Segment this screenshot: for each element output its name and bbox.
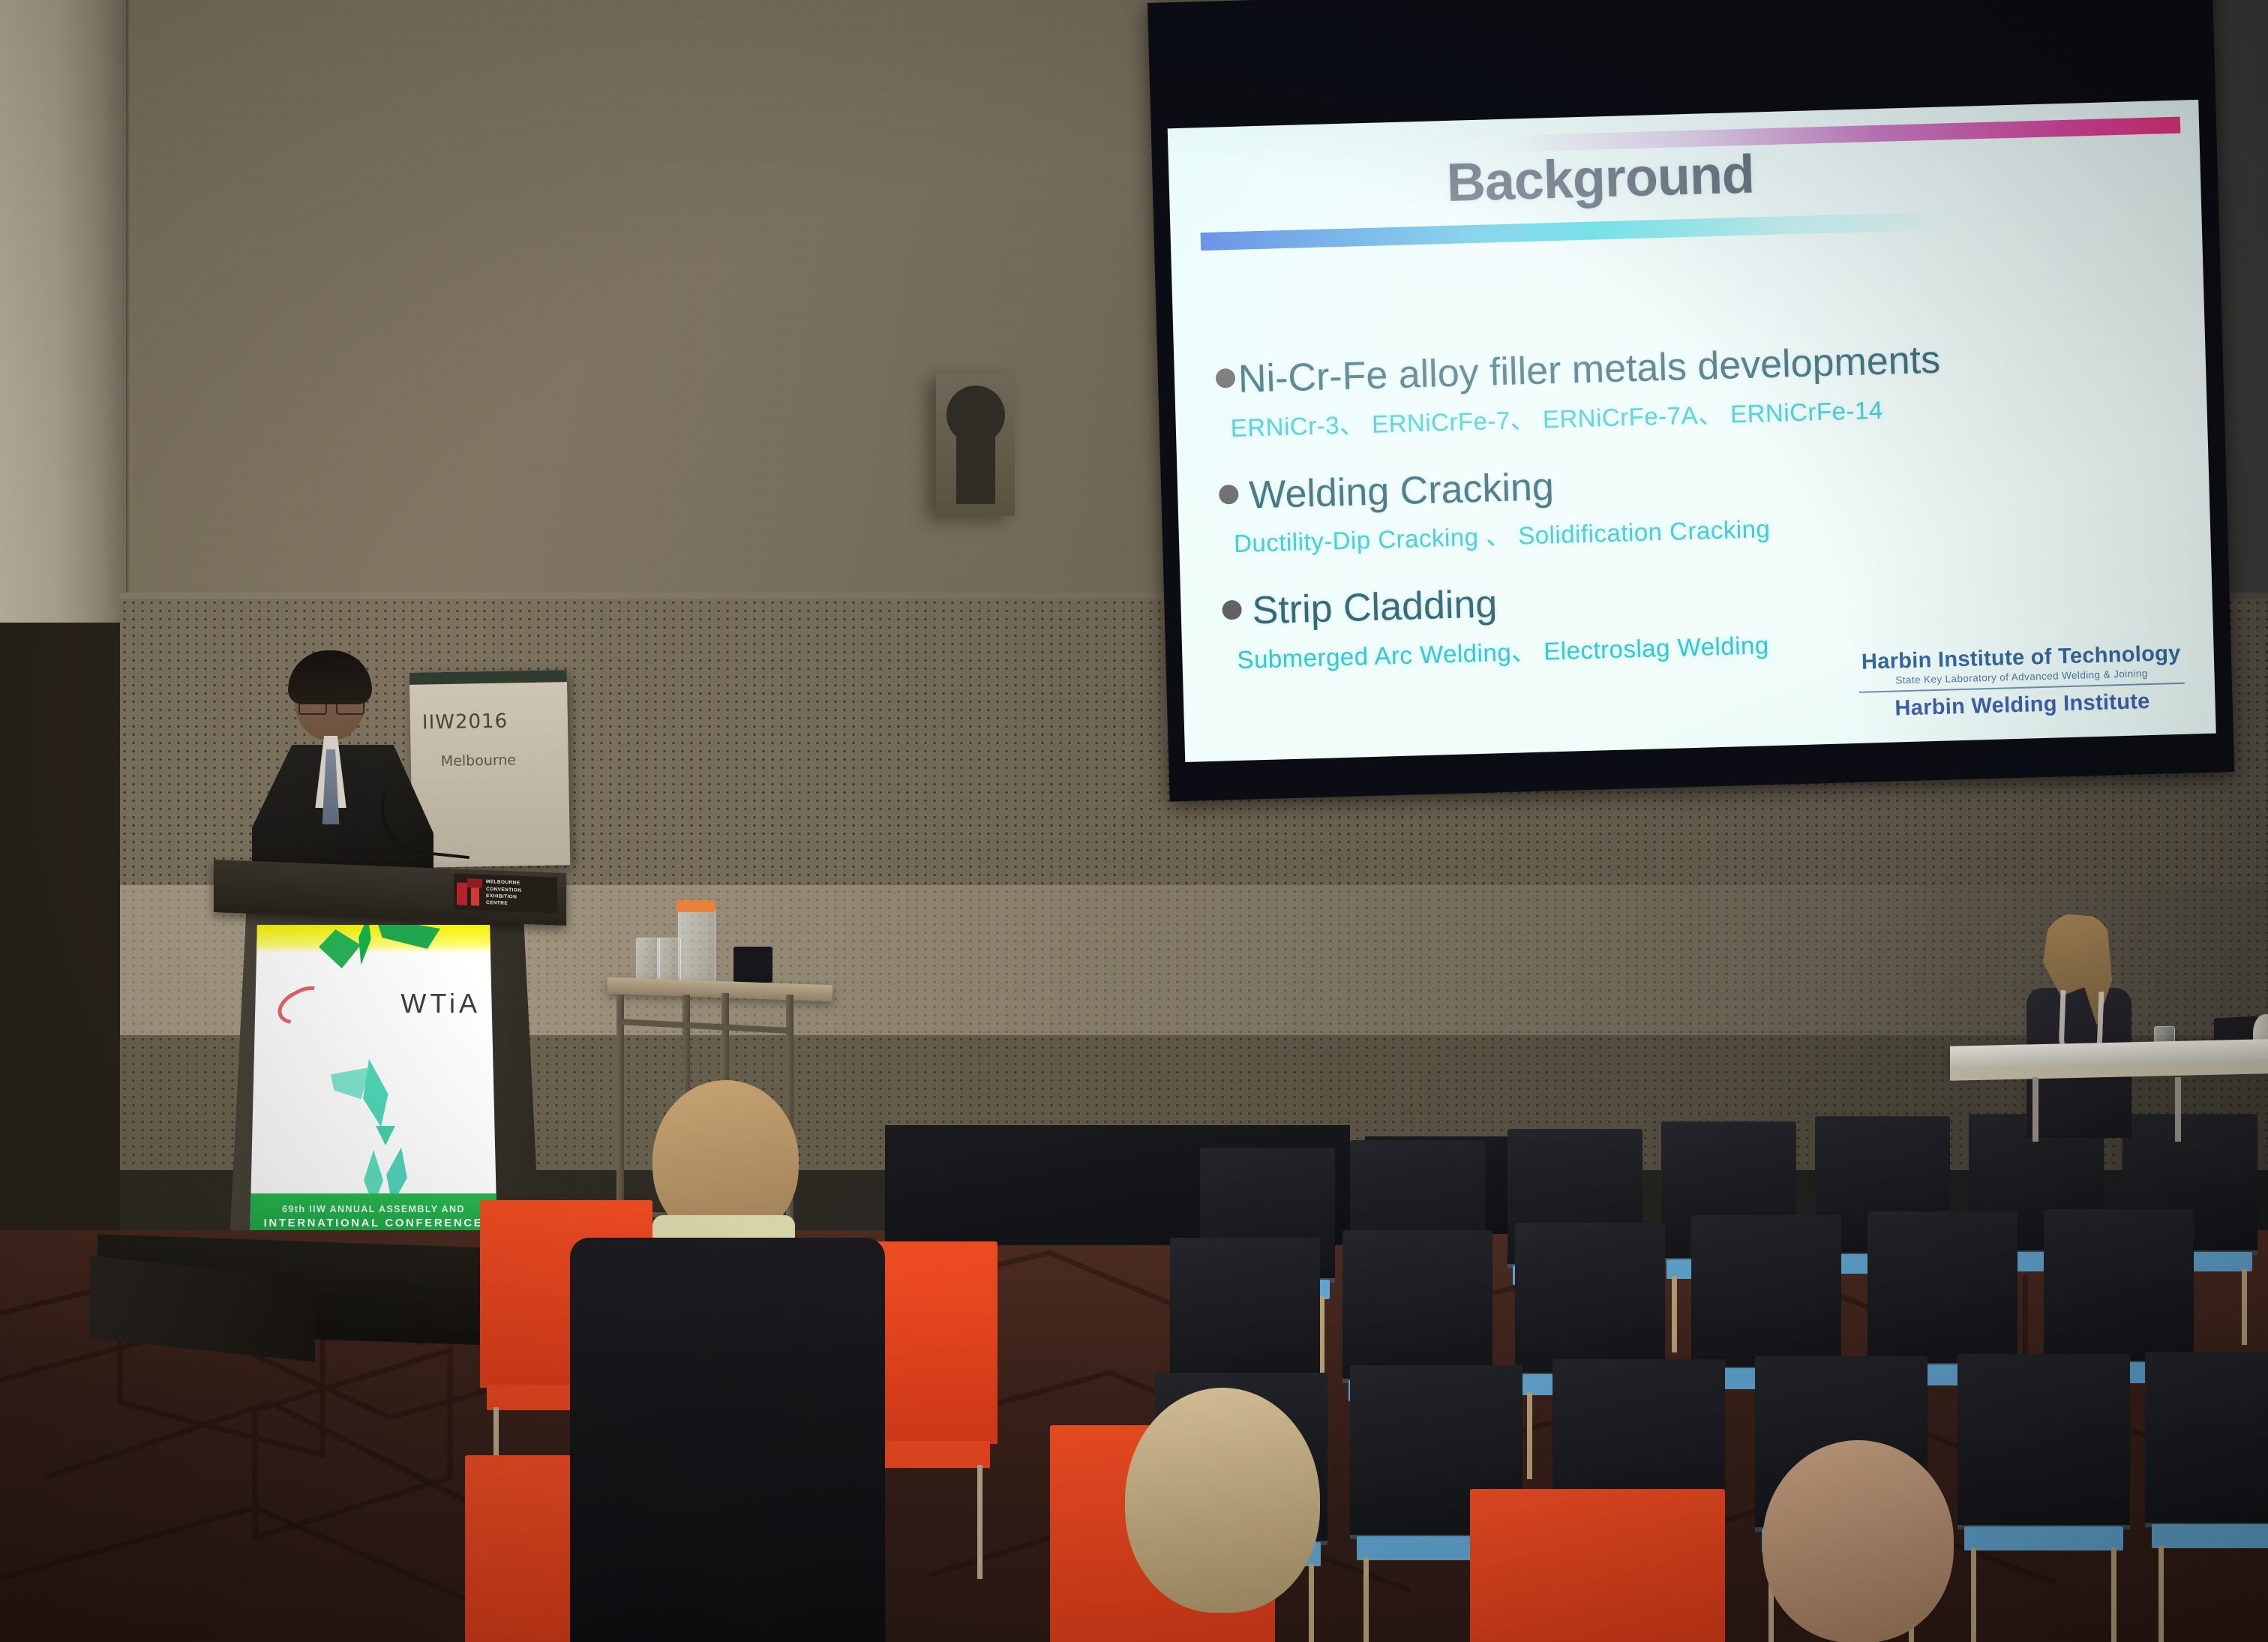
- bullet-dot-icon: [1219, 484, 1239, 504]
- panel-yellow-band: [250, 925, 497, 953]
- leaf-shape-icon: [376, 1126, 395, 1145]
- speaker-grille-icon: [946, 386, 1005, 504]
- water-carafe: [678, 908, 715, 987]
- swoosh-logo-icon: [272, 980, 333, 1033]
- slide-title: Background: [1168, 136, 2032, 221]
- chair-dark[interactable]: [1957, 1354, 2130, 1642]
- audience-head: [1125, 1388, 1320, 1613]
- slide-institution-footer: Harbin Institute of Technology State Key…: [1844, 641, 2198, 722]
- audience-torso: [570, 1238, 885, 1642]
- venue-logo-text: MELBOURNE CONVENTION EXHIBITION CENTRE: [486, 878, 521, 908]
- table-leg: [2175, 1077, 2181, 1142]
- left-wall-pillar: [0, 0, 127, 623]
- flipchart-text-line2: Melbourne: [441, 752, 517, 770]
- av-equipment-box: [733, 947, 772, 983]
- side-table-top: [607, 977, 832, 1001]
- presenter-person: [247, 656, 435, 881]
- table-leg: [2032, 1077, 2038, 1142]
- chair-dark[interactable]: [2145, 1352, 2268, 1642]
- head-table: [1950, 1043, 2268, 1133]
- presenter-hair: [288, 650, 372, 704]
- slide-bullet-2-heading: Welding Cracking: [1249, 467, 1555, 516]
- bullet-dot-icon: [1216, 368, 1236, 389]
- pillar-edge: [126, 0, 130, 623]
- audience-member-front: [570, 1080, 885, 1642]
- presentation-slide: Background Ni-Cr-Fe alloy filler metals …: [1168, 100, 2216, 762]
- glasses-icon: [297, 698, 366, 713]
- projection-screen: Background Ni-Cr-Fe alloy filler metals …: [1147, 0, 2234, 802]
- banner-line-1: 69th IIW ANNUAL ASSEMBLY AND: [282, 1204, 465, 1214]
- banner-line-2: INTERNATIONAL CONFERENCE: [264, 1217, 484, 1229]
- audience-member-right: [1747, 1440, 1972, 1642]
- audience-member-center: [1102, 1388, 1350, 1642]
- slide-bullet-3-heading: Strip Cladding: [1252, 584, 1498, 632]
- wtia-logo-text: WTiA: [400, 988, 481, 1019]
- chair-red[interactable]: [1470, 1489, 1725, 1642]
- podium-graphic-panel: WTiA 69th IIW ANNUAL ASSEMBLY AND INTERN…: [250, 925, 497, 1240]
- wall-speaker: [936, 374, 1015, 516]
- carafe-lid: [676, 900, 715, 912]
- mcec-mark-icon: [457, 878, 482, 906]
- conference-room-photo: Background Ni-Cr-Fe alloy filler metals …: [0, 0, 2268, 1642]
- venue-logo: MELBOURNE CONVENTION EXHIBITION CENTRE: [454, 873, 557, 913]
- footer-institute-name: Harbin Welding Institute: [1846, 688, 2199, 722]
- bullet-dot-icon: [1222, 600, 1242, 620]
- table-rail: [618, 1019, 789, 1034]
- slide-accent-bar-bottom: [1201, 212, 1951, 251]
- audience-head: [1762, 1440, 1954, 1642]
